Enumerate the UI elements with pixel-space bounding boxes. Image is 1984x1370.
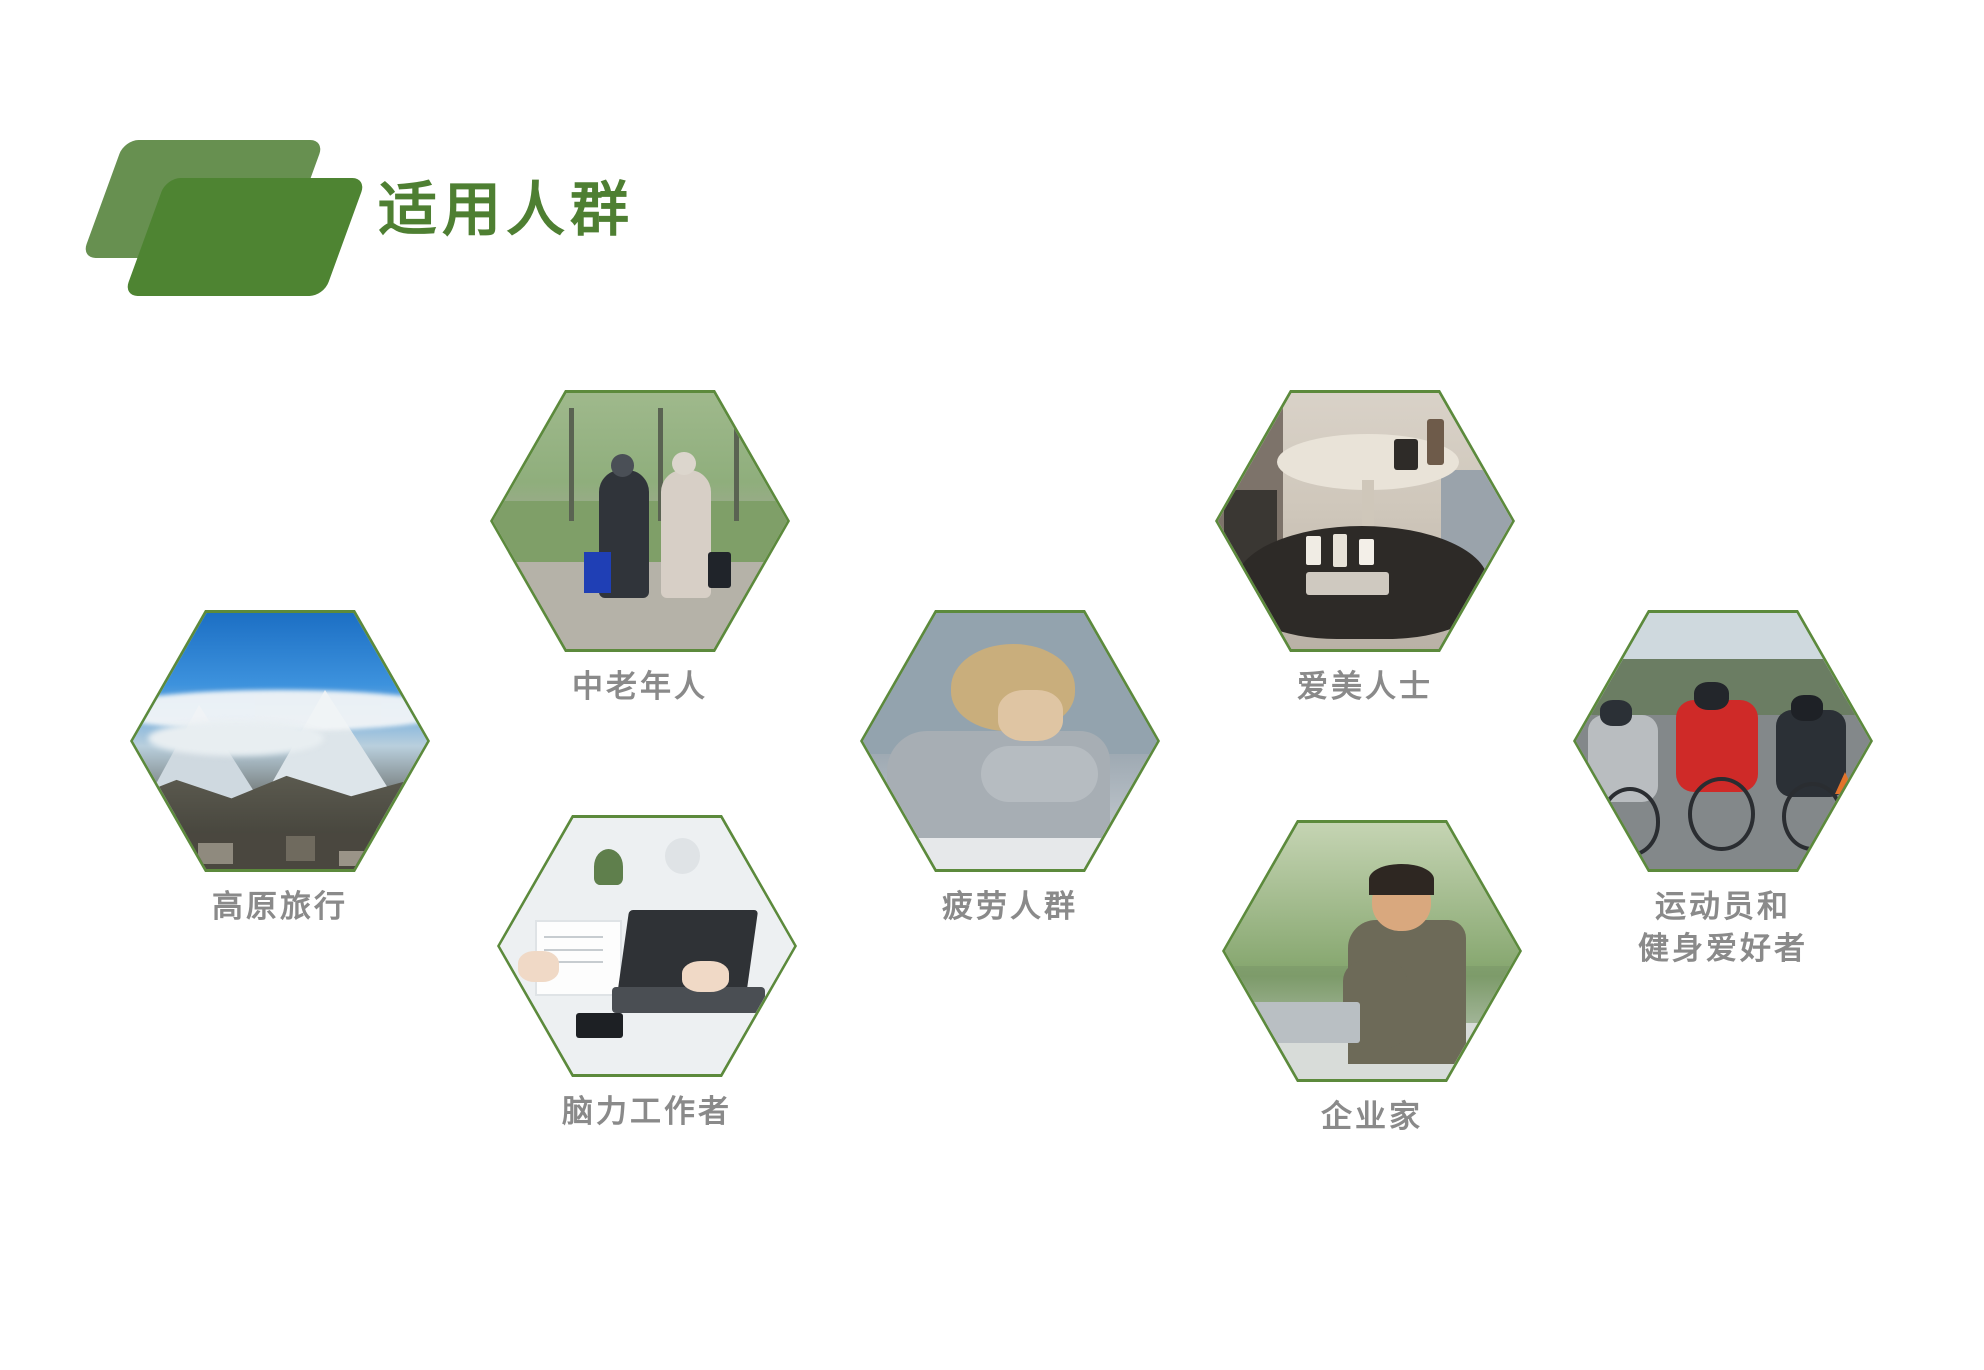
hex-label-fatigued-people: 疲劳人群 [860, 886, 1160, 928]
hexagon-frame [1222, 820, 1522, 1082]
tired-person-at-desk-photo [863, 613, 1157, 869]
hexagon-grid: 高原旅行 中老年人 [0, 0, 1984, 1370]
hexagon-frame [490, 390, 790, 652]
hexagon-photo-clip [1218, 393, 1512, 649]
man-on-phone-with-laptop-photo [1225, 823, 1519, 1079]
hexagon-frame [1573, 610, 1873, 872]
hex-label-athletes-fitness: 运动员和 健身爱好者 [1573, 886, 1873, 970]
hex-item-athletes-fitness[interactable]: 运动员和 健身爱好者 [1573, 610, 1873, 970]
elderly-couple-walking-photo [493, 393, 787, 649]
hexagon-frame [1215, 390, 1515, 652]
hexagon-photo-clip [493, 393, 787, 649]
hex-label-plateau-travel: 高原旅行 [130, 886, 430, 928]
hexagon-photo-clip [500, 818, 794, 1074]
hex-item-middle-aged-elderly[interactable]: 中老年人 [490, 390, 790, 708]
hexagon-photo-clip [1225, 823, 1519, 1079]
hex-label-entrepreneurs: 企业家 [1222, 1096, 1522, 1138]
hex-item-entrepreneurs[interactable]: 企业家 [1222, 820, 1522, 1138]
cosmetics-table-photo [1218, 393, 1512, 649]
hexagon-frame [860, 610, 1160, 872]
road-cyclists-race-photo [1576, 613, 1870, 869]
hex-item-beauty-lovers[interactable]: 爱美人士 [1215, 390, 1515, 708]
hexagon-photo-clip [863, 613, 1157, 869]
hex-label-middle-aged-elderly: 中老年人 [490, 666, 790, 708]
hex-item-plateau-travel[interactable]: 高原旅行 [130, 610, 430, 928]
hex-label-brain-workers: 脑力工作者 [497, 1091, 797, 1133]
hex-item-brain-workers[interactable]: 脑力工作者 [497, 815, 797, 1133]
hex-item-fatigued-people[interactable]: 疲劳人群 [860, 610, 1160, 928]
hexagon-frame [130, 610, 430, 872]
hexagon-frame [497, 815, 797, 1077]
office-desk-laptop-photo [500, 818, 794, 1074]
hexagon-photo-clip [1576, 613, 1870, 869]
hexagon-photo-clip [133, 613, 427, 869]
snow-mountain-village-photo [133, 613, 427, 869]
hex-label-beauty-lovers: 爱美人士 [1215, 666, 1515, 708]
